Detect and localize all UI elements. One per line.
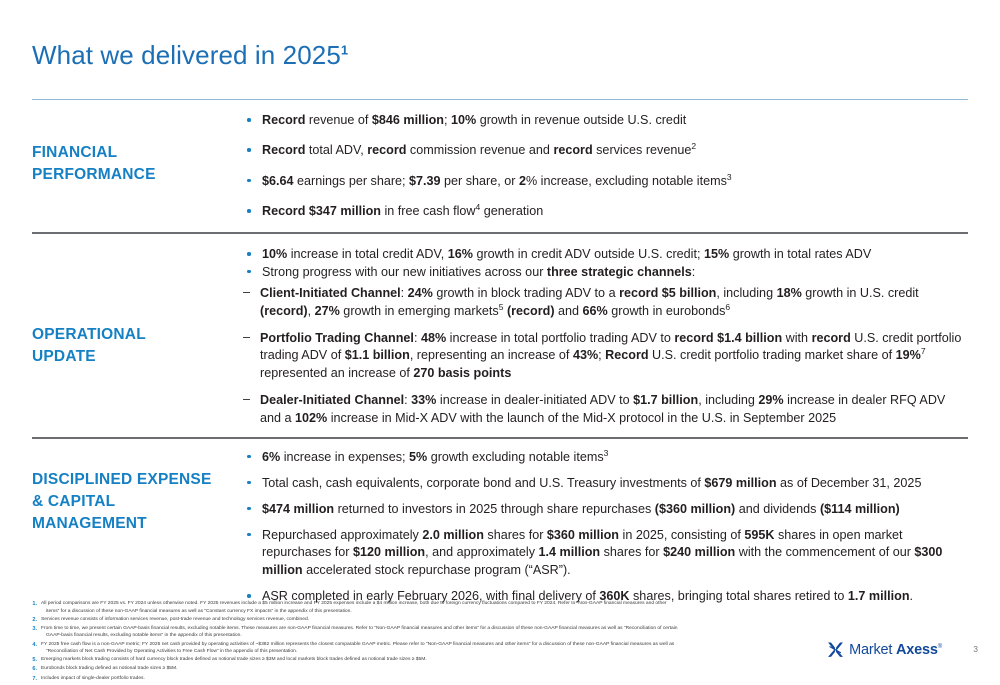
sub-bullet-item: Dealer-Initiated Channel: 33% increase i… <box>238 392 968 428</box>
section-content-operational-update: 10% increase in total credit ADV, 16% gr… <box>232 246 968 428</box>
footnote-line: Emerging markets block trading consists … <box>41 657 427 662</box>
footnote-row: 3. From time to time, we present certain… <box>28 625 868 640</box>
bullet-list: Record revenue of $846 million; 10% grow… <box>238 112 968 221</box>
section-label-line: MANAGEMENT <box>32 513 232 535</box>
bullet-item: 6% increase in expenses; 5% growth exclu… <box>238 449 968 467</box>
sub-bullet-item: Client-Initiated Channel: 24% growth in … <box>238 285 968 321</box>
footnote-row: 5. Emerging markets block trading consis… <box>28 656 868 665</box>
bullet-item: 10% increase in total credit ADV, 16% gr… <box>238 246 968 264</box>
section-label-line: & CAPITAL <box>32 491 232 513</box>
footnote-text: Emerging markets block trading consists … <box>41 656 868 664</box>
footnote-text: Includes impact of single-dealer portfol… <box>41 675 868 683</box>
bullet-item: Repurchased approximately 2.0 million sh… <box>238 527 968 581</box>
bullet-item: Total cash, cash equivalents, corporate … <box>238 475 968 493</box>
section-label-line: PERFORMANCE <box>32 164 232 186</box>
footnote-continuation: “Reconciliation of Net Cash Provided by … <box>41 648 868 656</box>
bullet-item: $6.64 earnings per share; $7.39 per shar… <box>238 173 968 191</box>
footnote-number: 4. <box>28 641 41 650</box>
footnote-row: 6. Eurobonds block trading defined as no… <box>28 665 868 674</box>
section-label-financial-performance: FINANCIAL PERFORMANCE <box>32 112 232 186</box>
sub-bullet-list: Client-Initiated Channel: 24% growth in … <box>238 285 968 428</box>
footnote-row: 1. All period comparisons are FY 2025 vs… <box>28 600 868 615</box>
bullet-item: $474 million returned to investors in 20… <box>238 501 968 519</box>
section-content-disciplined-expense: 6% increase in expenses; 5% growth exclu… <box>232 449 968 606</box>
marketaxess-x-icon <box>827 641 844 658</box>
footnote-text: Eurobonds block trading defined as notio… <box>41 665 868 673</box>
brand-logo-text: Market Axess® <box>849 642 942 658</box>
bullet-item: Record total ADV, record commission reve… <box>238 142 968 160</box>
footnote-continuation: GAAP-basis financial results, excluding … <box>41 632 868 640</box>
bullet-item: Strong progress with our new initiatives… <box>238 264 968 282</box>
footnote-number: 1. <box>28 600 41 609</box>
section-label-line: OPERATIONAL <box>32 324 232 346</box>
footnote-row: 4. FY 2025 free cash flow is a non-GAAP … <box>28 641 868 656</box>
footnote-number: 2. <box>28 616 41 625</box>
footnote-number: 3. <box>28 625 41 634</box>
footnotes: 1. All period comparisons are FY 2025 vs… <box>28 600 868 684</box>
footnote-text: Services revenue consists of information… <box>41 616 868 624</box>
footnote-text: All period comparisons are FY 2025 vs. F… <box>41 600 868 615</box>
brand-name-light: Market <box>849 642 896 658</box>
section-label-line: UPDATE <box>32 346 232 368</box>
footnote-row: 2. Services revenue consists of informat… <box>28 616 868 625</box>
footnote-row: 7. Includes impact of single-dealer port… <box>28 675 868 684</box>
footnote-text: From time to time, we present certain GA… <box>41 625 868 640</box>
slide-body: FINANCIAL PERFORMANCE Record revenue of … <box>32 99 968 615</box>
section-content-financial-performance: Record revenue of $846 million; 10% grow… <box>232 112 968 221</box>
section-disciplined-expense: DISCIPLINED EXPENSE & CAPITAL MANAGEMENT… <box>32 439 968 615</box>
registered-trademark-icon: ® <box>938 644 942 650</box>
brand-name-bold: Axess <box>896 642 938 658</box>
section-label-line: FINANCIAL <box>32 142 232 164</box>
footnote-line: All period comparisons are FY 2025 vs. F… <box>41 601 667 606</box>
footnote-line: From time to time, we present certain GA… <box>41 626 678 631</box>
section-label-disciplined-expense: DISCIPLINED EXPENSE & CAPITAL MANAGEMENT <box>32 449 232 535</box>
sub-bullet-item: Portfolio Trading Channel: 48% increase … <box>238 330 968 384</box>
bullet-item: Record revenue of $846 million; 10% grow… <box>238 112 968 130</box>
section-operational-update: OPERATIONAL UPDATE 10% increase in total… <box>32 234 968 437</box>
slide-root: What we delivered in 20251 FINANCIAL PER… <box>0 0 1000 685</box>
footnote-number: 6. <box>28 665 41 674</box>
footnote-line: Eurobonds block trading defined as notio… <box>41 666 177 671</box>
footnote-line: Services revenue consists of information… <box>41 617 309 622</box>
bullet-list: 10% increase in total credit ADV, 16% gr… <box>238 246 968 282</box>
bullet-item: Record $347 million in free cash flow4 g… <box>238 203 968 221</box>
section-label-line: DISCIPLINED EXPENSE <box>32 469 232 491</box>
page-number: 3 <box>973 644 978 654</box>
footnote-number: 5. <box>28 656 41 665</box>
footnote-line: Includes impact of single-dealer portfol… <box>41 676 145 681</box>
page-title: What we delivered in 20251 <box>32 40 348 71</box>
footnote-line: FY 2025 free cash flow is a non-GAAP met… <box>41 642 674 647</box>
page-title-footnote-marker: 1 <box>341 42 348 57</box>
section-financial-performance: FINANCIAL PERFORMANCE Record revenue of … <box>32 100 968 232</box>
section-label-operational-update: OPERATIONAL UPDATE <box>32 246 232 368</box>
footnote-text: FY 2025 free cash flow is a non-GAAP met… <box>41 641 868 656</box>
brand-logo: Market Axess® <box>827 641 942 658</box>
footnote-continuation: items” for a discussion of these non-GAA… <box>41 608 868 616</box>
page-title-text: What we delivered in 2025 <box>32 40 341 70</box>
footnote-number: 7. <box>28 675 41 684</box>
bullet-list: 6% increase in expenses; 5% growth exclu… <box>238 449 968 606</box>
